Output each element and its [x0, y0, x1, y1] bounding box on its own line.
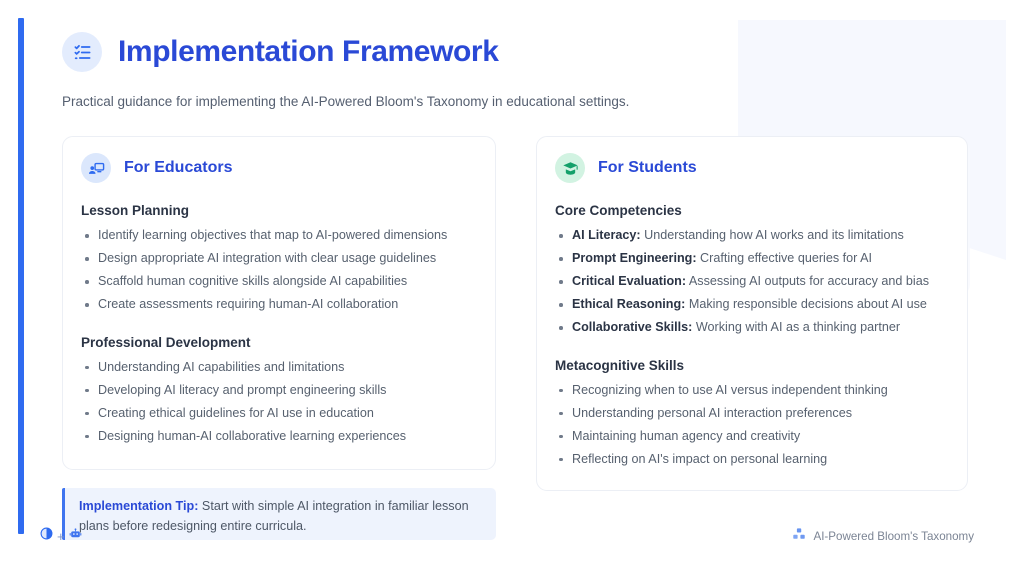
list-item: Maintaining human agency and creativity — [555, 427, 949, 447]
list-item-label: Ethical Reasoning: — [572, 297, 685, 311]
list-item-text: Identify learning objectives that map to… — [98, 228, 447, 242]
card-for-educators: For Educators Lesson Planning Identify l… — [62, 136, 496, 470]
list-item-text: Developing AI literacy and prompt engine… — [98, 383, 386, 397]
section-title: Professional Development — [81, 335, 477, 350]
graduation-cap-icon — [555, 153, 585, 183]
list-item: Identify learning objectives that map to… — [81, 226, 477, 246]
checklist-icon — [62, 32, 102, 72]
list-item: Developing AI literacy and prompt engine… — [81, 381, 477, 401]
list-item: Understanding personal AI interaction pr… — [555, 404, 949, 424]
list-item: Recognizing when to use AI versus indepe… — [555, 381, 949, 401]
card-header-educators: For Educators — [63, 137, 495, 183]
section-title: Metacognitive Skills — [555, 358, 949, 373]
slide-footer: AI-Powered Bloom's Taxonomy — [792, 527, 974, 546]
cubes-cluster-icon — [792, 527, 806, 546]
list-item-text: Design appropriate AI integration with c… — [98, 251, 436, 265]
section-lesson-planning: Lesson Planning Identify learning object… — [63, 203, 495, 315]
list-item-label: Prompt Engineering: — [572, 251, 697, 265]
left-accent-bar — [18, 18, 24, 534]
page-subtitle: Practical guidance for implementing the … — [62, 94, 629, 109]
list-item: AI Literacy: Understanding how AI works … — [555, 226, 949, 246]
list-item-text: Understanding AI capabilities and limita… — [98, 360, 344, 374]
bullet-list-professional-development: Understanding AI capabilities and limita… — [81, 358, 477, 447]
list-item: Scaffold human cognitive skills alongsid… — [81, 272, 477, 292]
bullet-list-lesson-planning: Identify learning objectives that map to… — [81, 226, 477, 315]
list-item-text: Reflecting on AI's impact on personal le… — [572, 452, 827, 466]
list-item: Understanding AI capabilities and limita… — [81, 358, 477, 378]
card-header-students: For Students — [537, 137, 967, 183]
list-item-label: AI Literacy: — [572, 228, 641, 242]
list-item-label: Collaborative Skills: — [572, 320, 692, 334]
section-title: Lesson Planning — [81, 203, 477, 218]
list-item: Ethical Reasoning: Making responsible de… — [555, 295, 949, 315]
list-item: Create assessments requiring human-AI co… — [81, 295, 477, 315]
bullet-list-metacognitive-skills: Recognizing when to use AI versus indepe… — [555, 381, 949, 470]
list-item-label: Critical Evaluation: — [572, 274, 686, 288]
tip-label: Implementation Tip: — [79, 499, 198, 513]
slide-canvas: Implementation Framework Practical guida… — [0, 0, 1024, 576]
section-professional-development: Professional Development Understanding A… — [63, 335, 495, 447]
list-item: Prompt Engineering: Crafting effective q… — [555, 249, 949, 269]
slide-header: Implementation Framework — [62, 32, 499, 72]
list-item-text: Understanding personal AI interaction pr… — [572, 406, 852, 420]
list-item: Designing human-AI collaborative learnin… — [81, 427, 477, 447]
list-item-text: Scaffold human cognitive skills alongsid… — [98, 274, 407, 288]
list-item-text: Assessing AI outputs for accuracy and bi… — [686, 274, 929, 288]
bullet-list-core-competencies: AI Literacy: Understanding how AI works … — [555, 226, 949, 338]
add-button[interactable]: + — [57, 530, 65, 543]
list-item-text: Crafting effective queries for AI — [697, 251, 872, 265]
list-item-text: Recognizing when to use AI versus indepe… — [572, 383, 888, 397]
list-item-text: Understanding how AI works and its limit… — [641, 228, 904, 242]
list-item-text: Creating ethical guidelines for AI use i… — [98, 406, 374, 420]
card-title-students: For Students — [598, 159, 697, 177]
list-item: Critical Evaluation: Assessing AI output… — [555, 272, 949, 292]
card-title-educators: For Educators — [124, 159, 232, 177]
list-item: Collaborative Skills: Working with AI as… — [555, 318, 949, 338]
list-item-text: Making responsible decisions about AI us… — [685, 297, 927, 311]
list-item-text: Create assessments requiring human-AI co… — [98, 297, 398, 311]
footer-label: AI-Powered Bloom's Taxonomy — [813, 530, 974, 543]
list-item-text: Working with AI as a thinking partner — [692, 320, 900, 334]
tip-text: Implementation Tip: Start with simple AI… — [79, 497, 482, 537]
section-core-competencies: Core Competencies AI Literacy: Understan… — [537, 203, 967, 338]
page-title: Implementation Framework — [118, 35, 499, 69]
robot-icon[interactable] — [69, 527, 82, 545]
implementation-tip-callout: Implementation Tip: Start with simple AI… — [62, 488, 496, 540]
presentation-person-icon — [81, 153, 111, 183]
section-title: Core Competencies — [555, 203, 949, 218]
list-item: Reflecting on AI's impact on personal le… — [555, 450, 949, 470]
section-metacognitive-skills: Metacognitive Skills Recognizing when to… — [537, 358, 967, 470]
list-item-text: Maintaining human agency and creativity — [572, 429, 800, 443]
list-item-text: Designing human-AI collaborative learnin… — [98, 429, 406, 443]
card-for-students: For Students Core Competencies AI Litera… — [536, 136, 968, 491]
half-circle-icon[interactable] — [40, 527, 53, 545]
assistant-toolbar[interactable]: + — [40, 527, 82, 545]
list-item: Creating ethical guidelines for AI use i… — [81, 404, 477, 424]
list-item: Design appropriate AI integration with c… — [81, 249, 477, 269]
